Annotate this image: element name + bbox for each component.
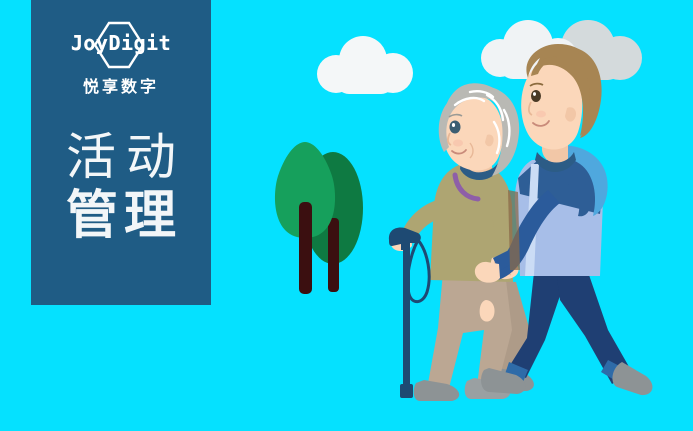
poster-canvas: JoyDigit 悦享数字 活动 管理 (0, 0, 693, 431)
man-eye (531, 90, 541, 102)
brand-logo: JoyDigit (51, 23, 191, 69)
woman-eye (450, 121, 461, 134)
title-line-2: 管理 (56, 189, 186, 243)
logo-wordmark: JoyDigit (51, 31, 191, 55)
woman-bag-strap (508, 190, 520, 270)
cane-tip (400, 384, 413, 398)
poster-title: 活动 管理 (56, 131, 186, 243)
tree-large-trunk (299, 202, 312, 294)
title-panel: JoyDigit 悦享数字 活动 管理 (31, 0, 211, 305)
title-line-1: 活动 (56, 131, 186, 183)
tree-small-trunk (328, 218, 339, 292)
woman-cheek (453, 140, 463, 147)
man-cheek (536, 111, 546, 118)
logo-subtitle: 悦享数字 (83, 73, 159, 97)
man-eye-highlight (533, 92, 536, 96)
woman-eye-highlight (452, 123, 455, 127)
